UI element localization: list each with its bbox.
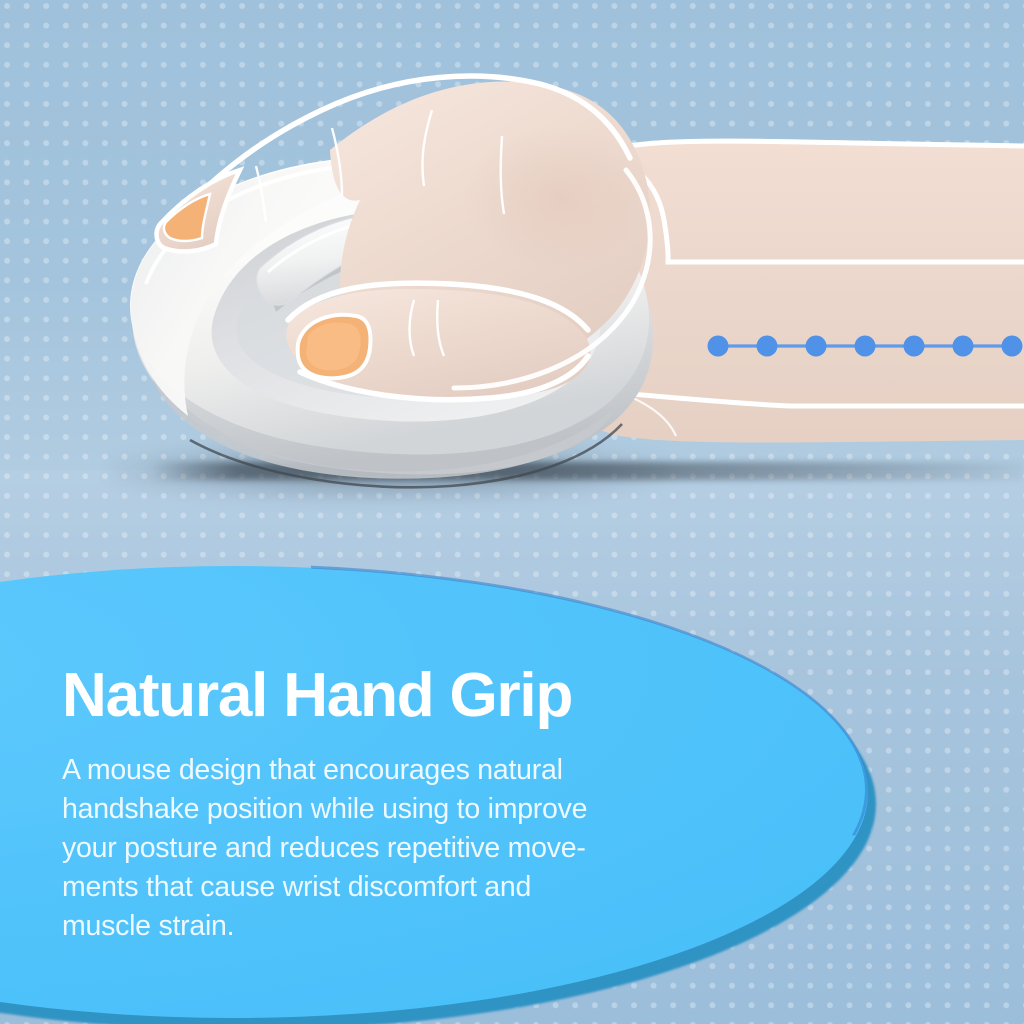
text-block: Natural Hand Grip A mouse design that en… <box>62 664 762 946</box>
body-line-2: handshake position while using to improv… <box>62 790 734 829</box>
illustration-canvas: Natural Hand Grip A mouse design that en… <box>0 0 1024 1024</box>
body-line-5: muscle strain. <box>62 907 734 946</box>
body-paragraph: A mouse design that encourages natural h… <box>62 751 734 945</box>
page-title: Natural Hand Grip <box>62 664 762 727</box>
body-line-1: A mouse design that encourages natural <box>62 751 734 790</box>
body-line-3: your posture and reduces repetitive move… <box>62 829 734 868</box>
body-line-4: ments that cause wrist discomfort and <box>62 868 734 907</box>
